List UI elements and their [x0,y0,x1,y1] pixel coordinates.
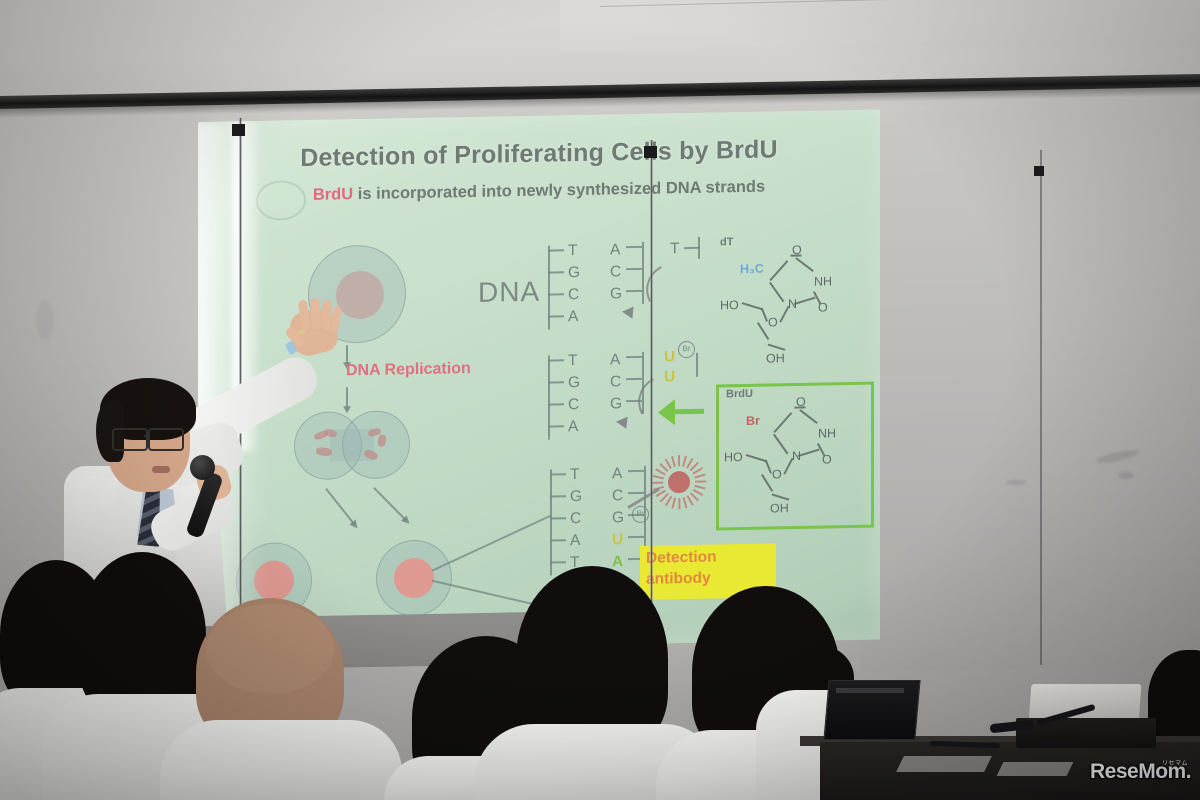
base-letter-u: U [664,349,675,365]
whiteboard-smudge [1006,480,1026,485]
base-letter: G [570,489,582,505]
glasses-left-lens [112,428,148,451]
detection-antibody-line2: antibody [646,570,711,588]
arrow-to-replication [346,345,348,363]
watermark: ReseMom. リセマム [1090,758,1190,788]
bromine-label: Br [746,414,760,428]
base-letter: A [568,309,578,325]
base-letter: C [568,287,579,303]
atom-NH: NH [814,274,832,288]
dna-label: DNA [478,276,540,309]
whiteboard-seam-right [1040,150,1042,665]
base-letter: C [610,374,621,390]
base-letter: A [570,533,580,549]
base-letter: A [610,352,620,368]
atom-OH: OH [770,501,789,515]
atom-HO: HO [724,450,743,464]
br-marker: Br [678,341,695,358]
paper-sheet [896,756,992,772]
base-letter: A [568,419,578,435]
rail-bracket [1034,166,1044,176]
detection-antibody-line1: Detection [646,548,717,566]
watermark-superscript: リセマム [1162,758,1188,767]
base-letter: G [610,286,622,302]
screenshot-root: Detection of Proliferating Cells by BrdU… [0,0,1200,800]
base-letter: G [610,396,622,412]
BrdU-tag: BrdU [726,388,753,400]
base-letter: G [568,265,580,281]
base-letter: C [568,397,579,413]
rail-bracket [232,124,245,136]
base-letter-u: U [612,532,623,548]
whiteboard-smudge [36,300,54,340]
base-letter: G [612,510,624,526]
arrow-to-daughter-right [373,487,406,521]
presenter-finger [310,298,321,330]
brdu-arrow-stem [674,409,704,415]
dna-replication-label: DNA Replication [346,360,471,380]
chem-structure-BrdU: BrdU Br O NH O HO O OH N [722,386,872,525]
arrow-to-daughter-left [325,488,355,525]
detection-antibody-label: Detection antibody [646,546,717,589]
base-letter: G [568,375,580,391]
base-letter: T [670,241,679,257]
base-letter-a: A [612,554,623,570]
fluorescent-signal-icon [650,453,708,512]
atom-HO: HO [720,298,739,312]
rail-bracket [644,146,657,158]
audience-head-highlight [206,604,334,694]
paper-sheet [997,762,1074,776]
brdu-arrow-head [658,399,675,425]
microphone-head [190,455,215,480]
base-letter: C [610,264,621,280]
base-letter: A [610,242,620,258]
atom-NH: NH [818,426,836,440]
base-letter: C [570,511,581,527]
whiteboard-panel-right [860,95,1200,672]
laptop-screen-glow [836,688,904,693]
atom-O-ring: O [772,467,782,481]
slide-subtitle-highlight: BrdU [313,185,353,204]
methyl-label: H₃C [740,262,764,276]
chem-structure-dT: dT H₃C O NH O HO O OH N [718,234,868,377]
slide-title: Detection of Proliferating Cells by BrdU [198,134,880,175]
atom-O-ring: O [768,315,778,329]
base-letter: T [568,353,577,369]
leader-line-up [432,515,551,571]
base-letter: C [612,488,623,504]
base-letter: T [570,467,579,483]
br-marker: Br [632,506,649,523]
slide-subtitle-rest: is incorporated into newly synthesized D… [353,178,765,204]
incorporation-arrow-1 [621,306,633,319]
dT-tag: dT [720,236,733,248]
arrow-to-dividing-cell [346,387,348,407]
atom-OH: OH [766,351,785,365]
base-letter: A [612,466,622,482]
incorporation-arrow-2 [615,416,627,429]
base-letter: T [568,243,577,259]
glasses-right-lens [148,428,184,451]
glasses-bridge [144,435,150,437]
audience-shirt [160,720,402,800]
whiteboard-smudge [1118,472,1134,479]
presenter-mouth [152,466,170,473]
